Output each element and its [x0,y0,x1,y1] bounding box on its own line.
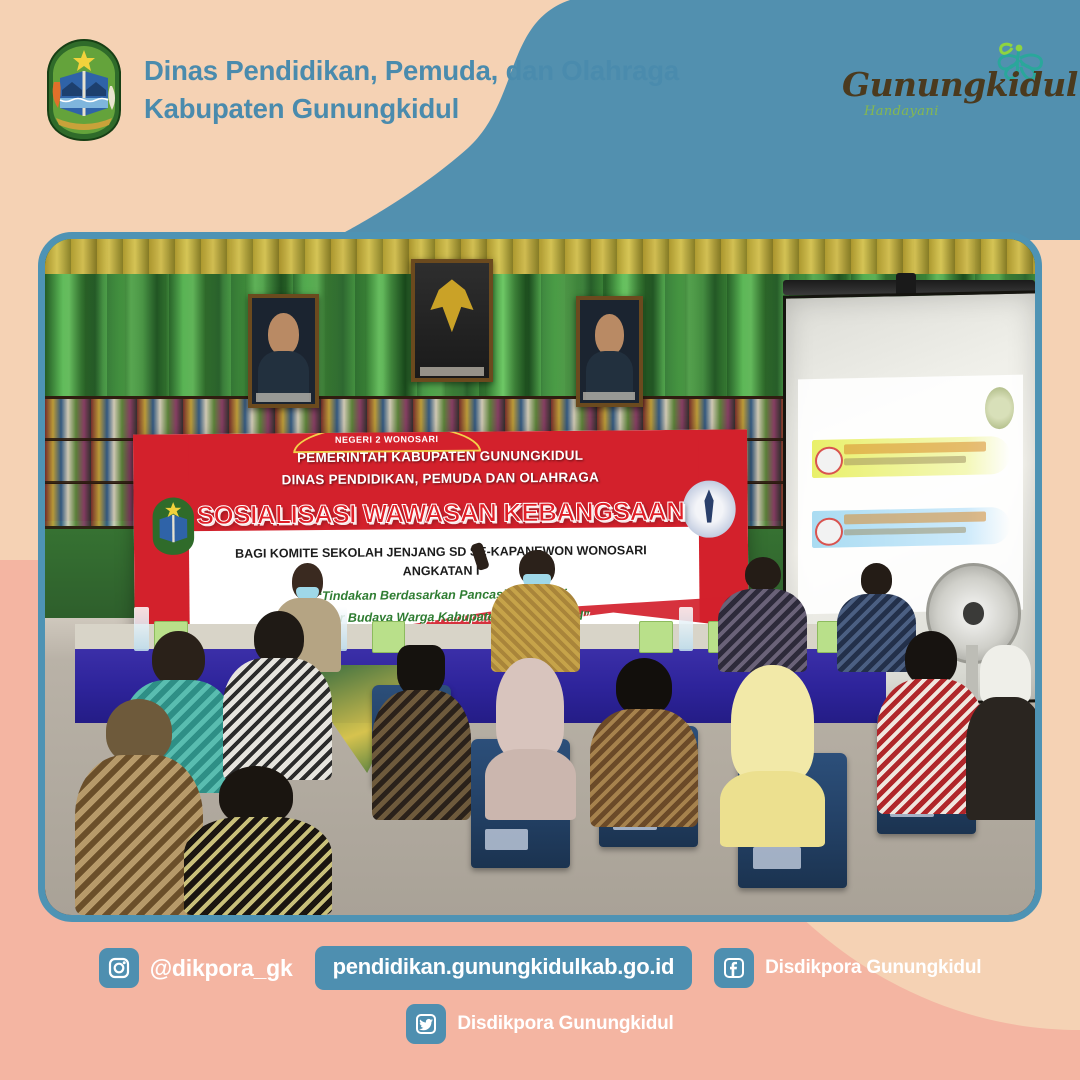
audience-member-hijab [481,658,580,820]
slide-bullet-number [814,517,842,546]
water-bottle [679,607,694,650]
speaker-presenter [491,550,580,672]
valance-trim [45,239,1035,274]
twitter-label: Disdikpora Gunungkidul [457,1013,673,1035]
slide-bullet-row [811,436,1009,478]
garuda-pancasila-emblem-icon [411,259,492,382]
slide-bullet-number [814,447,842,476]
audience-member-hijab [718,665,827,848]
brand-wordmark: Gunungkidul [842,68,1024,101]
seminar-photograph: NEGERI 2 WONOSARI PEMERINTAH KABUPATEN G… [38,232,1042,922]
audience-member [184,766,333,915]
slide-bullet-row [811,507,1009,549]
vice-president-portrait-icon [576,296,643,407]
facebook-handle[interactable]: Disdikpora Gunungkidul [714,948,981,988]
header-title-block: Dinas Pendidikan, Pemuda, dan Olahraga K… [144,53,679,128]
facebook-icon[interactable] [714,948,754,988]
instagram-handle[interactable]: @dikpora_gk [99,948,293,988]
header: Dinas Pendidikan, Pemuda, dan Olahraga K… [42,38,679,142]
audience-member [590,658,699,827]
audience-member [223,611,332,780]
poster-canvas: Dinas Pendidikan, Pemuda, dan Olahraga K… [0,0,1080,1080]
table-cup [639,621,673,653]
facebook-label: Disdikpora Gunungkidul [765,957,981,979]
twitter-handle[interactable]: Disdikpora Gunungkidul [406,1004,673,1044]
president-portrait-icon [248,294,319,407]
page-title-line-2: Kabupaten Gunungkidul [144,91,679,127]
slide-logo-icon [984,387,1013,430]
slide-text-line [843,456,965,465]
audience-member [372,645,471,821]
banner-main-title: SOSIALISASI WAWASAN KEBANGSAAN [170,495,710,531]
footer: @dikpora_gk pendidikan.gunungkidulkab.go… [0,946,1080,1044]
website-url-pill[interactable]: pendidikan.gunungkidulkab.go.id [315,946,692,990]
instagram-label: @dikpora_gk [150,955,293,982]
brand-tagline: Handayani [864,104,939,119]
slide-text-line [843,512,985,525]
banner-quote-line-1: “Tindakan Berdasarkan Pancasila sebagai [190,586,693,604]
gunungkidul-handayani-brandmark: Gunungkidul Handayani [842,40,1052,136]
audience-member-kopiah [966,645,1035,821]
gunungkidul-regency-emblem-icon [42,38,126,142]
slide-text-line [843,527,965,536]
banner-line-3: BAGI KOMITE SEKOLAH JENJANG SD SE-KAPANE… [177,542,705,561]
page-title-line-1: Dinas Pendidikan, Pemuda, dan Olahraga [144,53,679,89]
twitter-icon[interactable] [406,1004,446,1044]
seated-attendee [718,557,807,672]
banner-line-4: ANGKATAN I [177,561,705,580]
slide-text-line [843,441,985,454]
instagram-icon[interactable] [99,948,139,988]
